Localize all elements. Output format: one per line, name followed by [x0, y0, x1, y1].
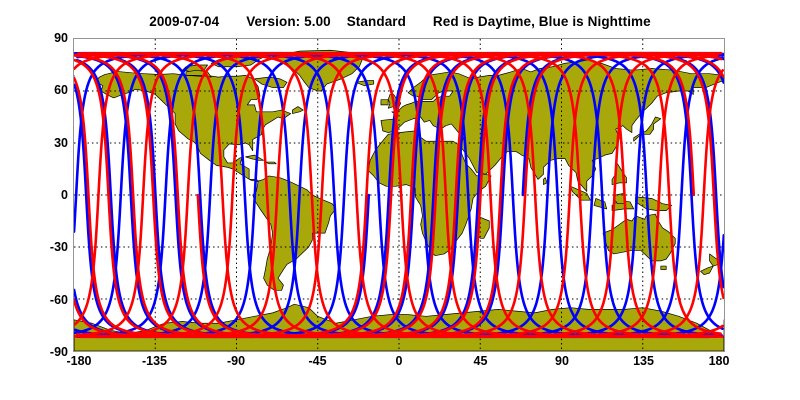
- satellite-ground-track-figure: 2009-07-04 Version: 5.00 Standard Red is…: [0, 0, 800, 400]
- x-tick-label: 45: [474, 354, 488, 368]
- x-tick-label: 180: [709, 354, 730, 368]
- x-tick-label: 0: [396, 354, 403, 368]
- x-axis-tick-labels: -180-135-90-4504590135180: [0, 0, 800, 400]
- x-tick-label: -180: [66, 354, 91, 368]
- x-tick-label: -90: [227, 354, 245, 368]
- x-tick-label: -135: [142, 354, 167, 368]
- x-tick-label: 135: [633, 354, 654, 368]
- x-tick-label: -45: [308, 354, 326, 368]
- x-tick-label: 90: [555, 354, 569, 368]
